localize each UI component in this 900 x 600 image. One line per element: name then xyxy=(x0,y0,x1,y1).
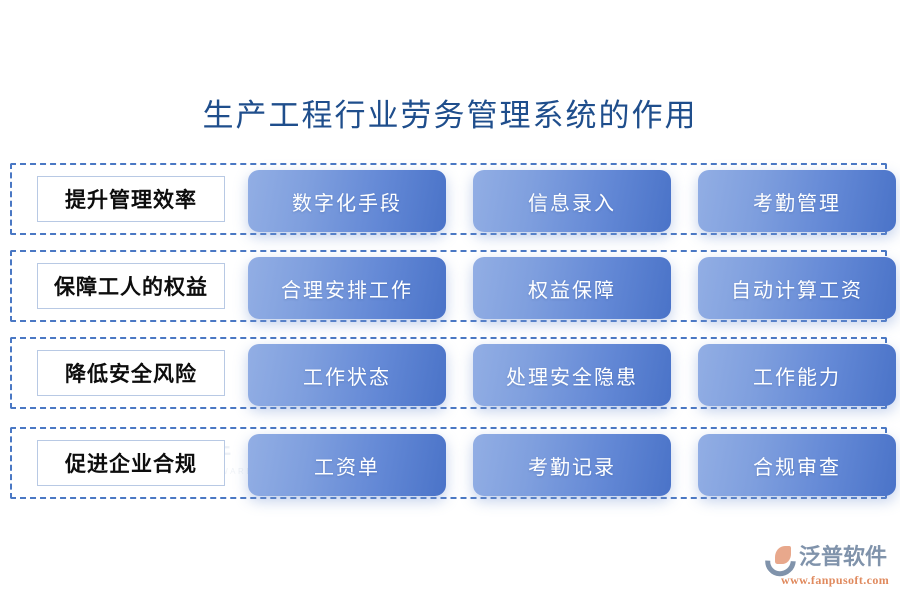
feature-card[interactable]: 考勤管理 xyxy=(698,170,896,232)
feature-card-label: 工作能力 xyxy=(753,361,841,390)
feature-card-label: 工作状态 xyxy=(303,361,391,390)
category-label: 促进企业合规 xyxy=(65,448,197,478)
brand-logo: 泛普软件 www.fanpusoft.com xyxy=(765,543,890,589)
infographic-canvas: 生产工程行业劳务管理系统的作用 泛普软件 FANPU SOFTWARE 提升管理… xyxy=(0,0,900,600)
feature-card-label: 考勤记录 xyxy=(528,451,616,480)
category-label-box: 保障工人的权益 xyxy=(37,263,225,309)
feature-card[interactable]: 工资单 xyxy=(248,434,446,496)
feature-card-label: 自动计算工资 xyxy=(731,274,863,303)
feature-card-label: 信息录入 xyxy=(528,187,616,216)
brand-name: 泛普软件 xyxy=(799,544,887,570)
feature-card-label: 合理安排工作 xyxy=(281,274,413,303)
feature-card[interactable]: 自动计算工资 xyxy=(698,257,896,319)
feature-card[interactable]: 数字化手段 xyxy=(248,170,446,232)
card-group: 工作状态 处理安全隐患 工作能力 xyxy=(248,339,888,411)
feature-card[interactable]: 信息录入 xyxy=(473,170,671,232)
category-row: 保障工人的权益 合理安排工作 权益保障 自动计算工资 xyxy=(10,250,887,322)
category-label: 降低安全风险 xyxy=(65,358,197,388)
brand-logo-row: 泛普软件 xyxy=(765,543,890,571)
feature-card[interactable]: 工作能力 xyxy=(698,344,896,406)
feature-card[interactable]: 考勤记录 xyxy=(473,434,671,496)
feature-card[interactable]: 处理安全隐患 xyxy=(473,344,671,406)
category-label-box: 降低安全风险 xyxy=(37,350,225,396)
card-group: 数字化手段 信息录入 考勤管理 xyxy=(248,165,888,237)
feature-card[interactable]: 工作状态 xyxy=(248,344,446,406)
fanpu-logo-mark-icon xyxy=(765,544,794,570)
category-row: 促进企业合规 工资单 考勤记录 合规审查 xyxy=(10,427,887,499)
feature-card-label: 工资单 xyxy=(314,451,380,480)
card-group: 合理安排工作 权益保障 自动计算工资 xyxy=(248,252,888,324)
category-row: 降低安全风险 工作状态 处理安全隐患 工作能力 xyxy=(10,337,887,409)
feature-card-label: 合规审查 xyxy=(753,451,841,480)
feature-card[interactable]: 合规审查 xyxy=(698,434,896,496)
card-group: 工资单 考勤记录 合规审查 xyxy=(248,429,888,501)
category-label: 提升管理效率 xyxy=(65,184,197,214)
feature-card-label: 处理安全隐患 xyxy=(506,361,638,390)
page-title: 生产工程行业劳务管理系统的作用 xyxy=(0,96,900,136)
feature-card-label: 考勤管理 xyxy=(753,187,841,216)
feature-card-label: 权益保障 xyxy=(528,274,616,303)
category-label-box: 促进企业合规 xyxy=(37,440,225,486)
brand-url: www.fanpusoft.com xyxy=(781,573,890,588)
feature-card-label: 数字化手段 xyxy=(292,187,402,216)
category-label: 保障工人的权益 xyxy=(54,271,208,301)
category-row: 提升管理效率 数字化手段 信息录入 考勤管理 xyxy=(10,163,887,235)
feature-card[interactable]: 合理安排工作 xyxy=(248,257,446,319)
category-label-box: 提升管理效率 xyxy=(37,176,225,222)
feature-card[interactable]: 权益保障 xyxy=(473,257,671,319)
